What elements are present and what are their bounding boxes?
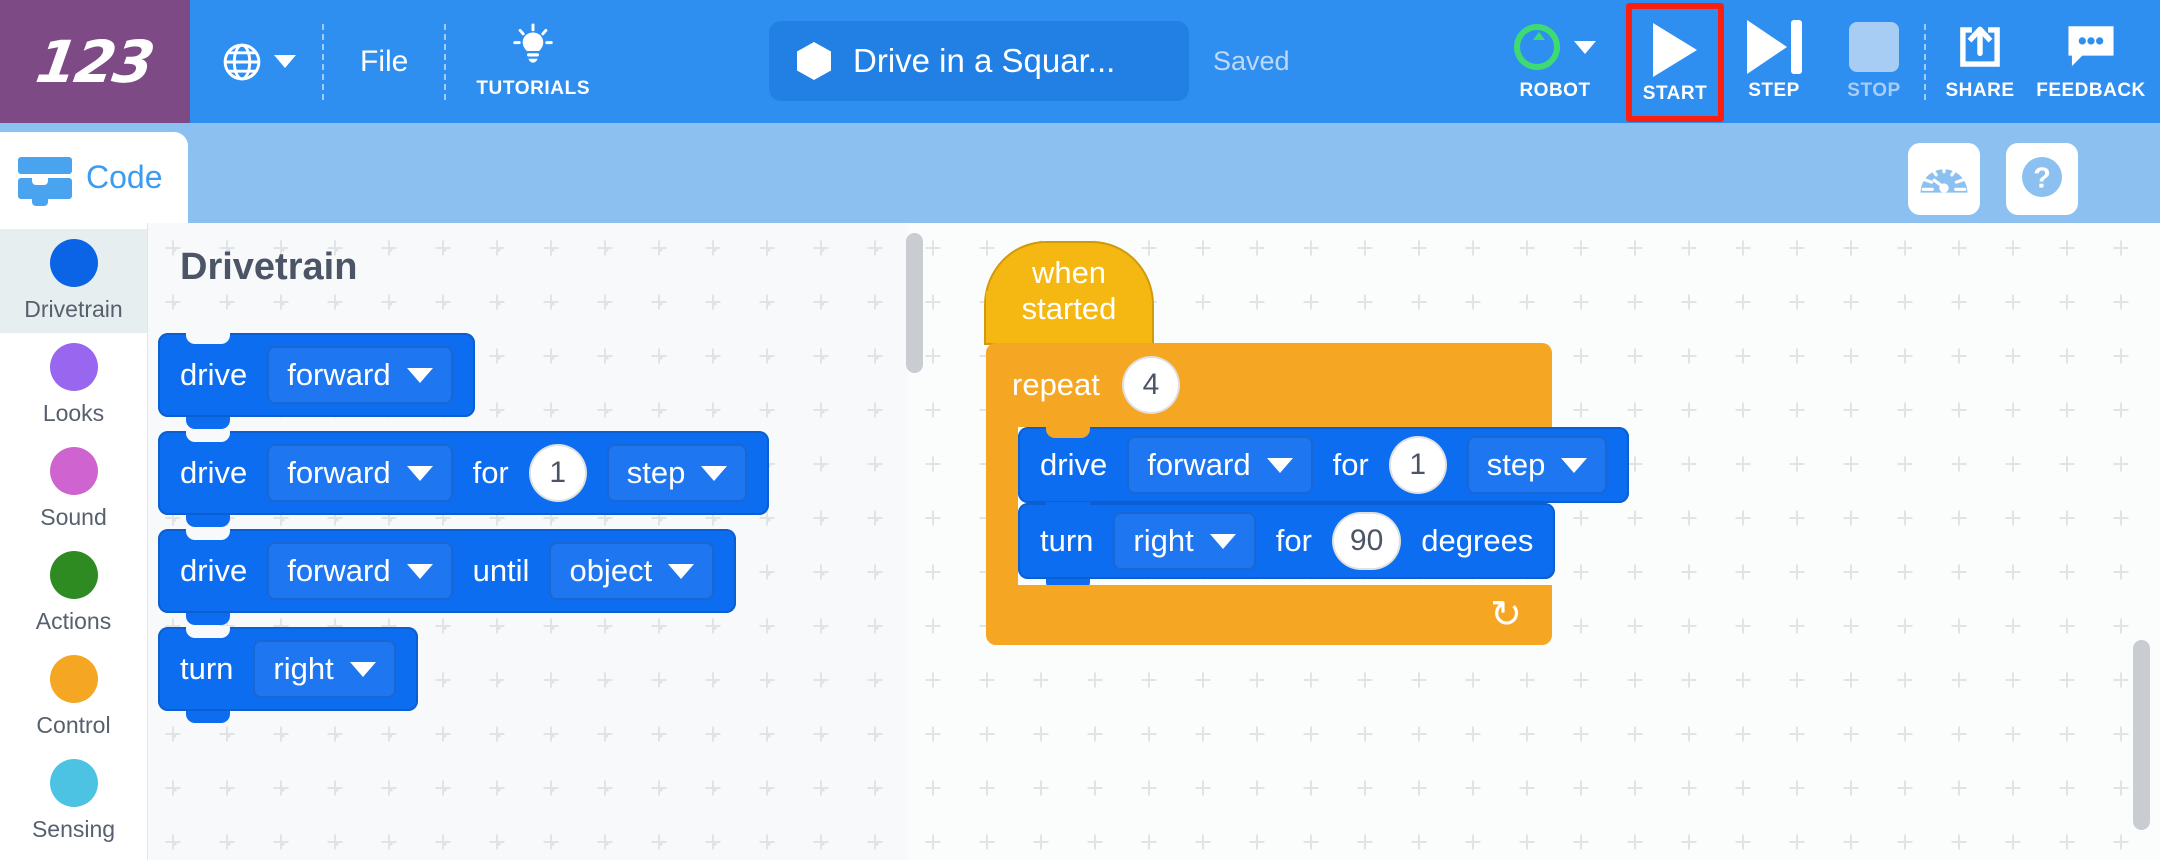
top-toolbar: 123 File (0, 0, 2160, 123)
block-repeat[interactable]: repeat 4 drive forward (986, 343, 1552, 645)
block-label: drive (180, 553, 247, 589)
repeat-count-input[interactable]: 4 (1122, 356, 1180, 414)
help-button[interactable]: ? (2006, 143, 2078, 215)
logo-text: 123 (32, 28, 158, 96)
palette-block-drive[interactable]: drive forward (158, 333, 475, 417)
save-status: Saved (1213, 46, 1290, 77)
tab-code[interactable]: Code (0, 132, 188, 223)
dropdown-value: forward (287, 553, 390, 589)
file-menu-label: File (360, 45, 408, 79)
gauge-icon (1918, 158, 1970, 201)
palette-scrollbar[interactable] (906, 233, 923, 637)
sound-color-dot (50, 447, 98, 495)
sidebar-item-control[interactable]: Control (0, 645, 147, 749)
sidebar-item-label: Control (36, 712, 110, 739)
unit-dropdown[interactable]: step (607, 444, 748, 502)
repeat-body: drive forward for 1 step (1018, 427, 1552, 585)
sidebar-item-sound[interactable]: Sound (0, 437, 147, 541)
dropdown-value: step (1487, 447, 1546, 483)
turn-direction-dropdown[interactable]: right (1113, 512, 1255, 570)
robot-button[interactable]: ROBOT (1484, 0, 1626, 123)
chevron-down-icon (1210, 534, 1236, 549)
workspace-scrollbar-thumb[interactable] (2133, 640, 2150, 830)
step-button[interactable]: STEP (1724, 0, 1824, 123)
block-label-for: for (1333, 447, 1369, 483)
dropdown-value: right (273, 651, 333, 687)
direction-dropdown[interactable]: forward (1127, 436, 1312, 494)
dropdown-value: object (569, 553, 652, 589)
block-label: drive (180, 455, 247, 491)
palette-block-turn[interactable]: turn right (158, 627, 418, 711)
share-button[interactable]: SHARE (1926, 0, 2034, 123)
distance-input[interactable]: 1 (1389, 436, 1447, 494)
sidebar-item-label: Sensing (32, 816, 115, 843)
dropdown-value: forward (287, 357, 390, 393)
block-label: turn (1040, 523, 1093, 559)
workspace-scrollbar[interactable] (2133, 640, 2150, 860)
code-workspace[interactable]: when started repeat 4 dri (908, 223, 2160, 860)
block-label-until: until (473, 553, 530, 589)
project-title: Drive in a Squar... (853, 42, 1115, 80)
direction-dropdown[interactable]: forward (267, 346, 452, 404)
block-turn-right-degrees[interactable]: turn right for 90 degrees (1018, 503, 1555, 579)
direction-dropdown[interactable]: forward (267, 542, 452, 600)
block-tab (186, 711, 230, 723)
block-label-for: for (473, 455, 509, 491)
play-icon (1653, 23, 1697, 77)
direction-dropdown[interactable]: forward (267, 444, 452, 502)
control-color-dot (50, 655, 98, 703)
stop-button[interactable]: STOP (1824, 0, 1924, 123)
speech-bubble-icon (2063, 16, 2119, 78)
robot-label: ROBOT (1519, 80, 1590, 102)
chevron-down-icon (274, 55, 296, 68)
unit-dropdown[interactable]: step (1467, 436, 1608, 494)
block-label: drive (180, 357, 247, 393)
repeat-header[interactable]: repeat 4 (986, 343, 1552, 427)
chevron-down-icon (407, 564, 433, 579)
repeat-footer: ↻ (986, 585, 1552, 645)
chevron-down-icon (1574, 41, 1596, 54)
sub-header-bar (0, 123, 2160, 223)
block-label: turn (180, 651, 233, 687)
sidebar-item-label: Looks (43, 400, 104, 427)
category-sidebar: Drivetrain Looks Sound Actions Control S… (0, 223, 148, 860)
looks-color-dot (50, 343, 98, 391)
globe-icon (220, 40, 264, 84)
palette-block-drive-for[interactable]: drive forward for 1 step (158, 431, 769, 515)
question-mark-icon: ? (2017, 152, 2067, 207)
robot-ring-icon (1514, 24, 1560, 70)
tutorials-label: TUTORIALS (476, 78, 590, 100)
sidebar-item-sensing[interactable]: Sensing (0, 749, 147, 853)
sidebar-item-looks[interactable]: Looks (0, 333, 147, 437)
main-area: Drivetrain Looks Sound Actions Control S… (0, 223, 2160, 860)
file-menu-button[interactable]: File (324, 0, 444, 123)
chevron-down-icon (407, 466, 433, 481)
actions-color-dot (50, 551, 98, 599)
block-label: drive (1040, 447, 1107, 483)
tab-code-label: Code (86, 159, 163, 196)
repeat-left-column (986, 427, 1018, 585)
repeat-keyword: repeat (1012, 367, 1100, 403)
block-notch (1046, 426, 1090, 438)
chevron-down-icon (668, 564, 694, 579)
when-started-label: when started (986, 255, 1152, 327)
svg-text:?: ? (2033, 162, 2051, 194)
dropdown-value: forward (287, 455, 390, 491)
sidebar-item-label: Sound (40, 504, 107, 531)
sensing-color-dot (50, 759, 98, 807)
sidebar-item-drivetrain[interactable]: Drivetrain (0, 229, 147, 333)
chevron-down-icon (1561, 458, 1587, 473)
vexcode-vr-app: 123 File (0, 0, 2160, 860)
block-tab (186, 417, 230, 429)
block-notch (186, 626, 230, 638)
sidebar-item-actions[interactable]: Actions (0, 541, 147, 645)
block-label-degrees: degrees (1421, 523, 1533, 559)
chevron-down-icon (350, 662, 376, 677)
loop-arrow-icon: ↻ (1490, 596, 1522, 634)
share-label: SHARE (1945, 80, 2014, 102)
hexagon-icon (797, 42, 831, 80)
block-drive-forward-for-step[interactable]: drive forward for 1 step (1018, 427, 1629, 503)
stop-square-icon (1849, 22, 1899, 72)
block-notch (1046, 502, 1090, 514)
block-tab (186, 515, 230, 527)
app-logo: 123 (0, 0, 190, 123)
drivetrain-color-dot (50, 239, 98, 287)
feedback-button[interactable]: FEEDBACK (2034, 0, 2160, 123)
block-notch (186, 332, 230, 344)
start-label: START (1643, 83, 1707, 105)
until-target-dropdown[interactable]: object (549, 542, 714, 600)
start-button[interactable]: START (1626, 3, 1724, 122)
chevron-down-icon (701, 466, 727, 481)
block-palette[interactable]: Drivetrain drive forward (148, 223, 908, 860)
block-notch (186, 430, 230, 442)
code-blocks-icon (18, 157, 72, 199)
stop-label: STOP (1847, 80, 1900, 102)
block-notch (186, 528, 230, 540)
palette-heading: Drivetrain (180, 246, 357, 289)
toolbar-right-group: ROBOT START STEP STOP (1484, 0, 2160, 123)
toolbar-left-group: File (190, 0, 620, 123)
dropdown-value: forward (1147, 447, 1250, 483)
share-icon (1953, 16, 2007, 78)
lightbulb-icon (510, 23, 556, 74)
language-selector[interactable] (190, 0, 322, 123)
angle-input[interactable]: 90 (1332, 512, 1401, 570)
sub-header-buttons: ? (1908, 143, 2078, 215)
palette-scrollbar-thumb[interactable] (906, 233, 923, 373)
palette-block-drive-until[interactable]: drive forward until object (158, 529, 736, 613)
sidebar-item-label: Drivetrain (24, 296, 122, 323)
block-label-for: for (1276, 523, 1312, 559)
dropdown-value: right (1133, 523, 1193, 559)
dashboard-button[interactable] (1908, 143, 1980, 215)
turn-direction-dropdown[interactable]: right (253, 640, 395, 698)
step-label: STEP (1748, 80, 1800, 102)
chevron-down-icon (1267, 458, 1293, 473)
dropdown-value: step (627, 455, 686, 491)
sidebar-item-label: Actions (36, 608, 111, 635)
feedback-label: FEEDBACK (2036, 80, 2146, 102)
project-name-field[interactable]: Drive in a Squar... (769, 21, 1189, 101)
distance-input[interactable]: 1 (529, 444, 587, 502)
chevron-down-icon (407, 368, 433, 383)
block-tab (186, 613, 230, 625)
step-forward-icon (1747, 16, 1802, 78)
tutorials-button[interactable]: TUTORIALS (446, 0, 620, 123)
